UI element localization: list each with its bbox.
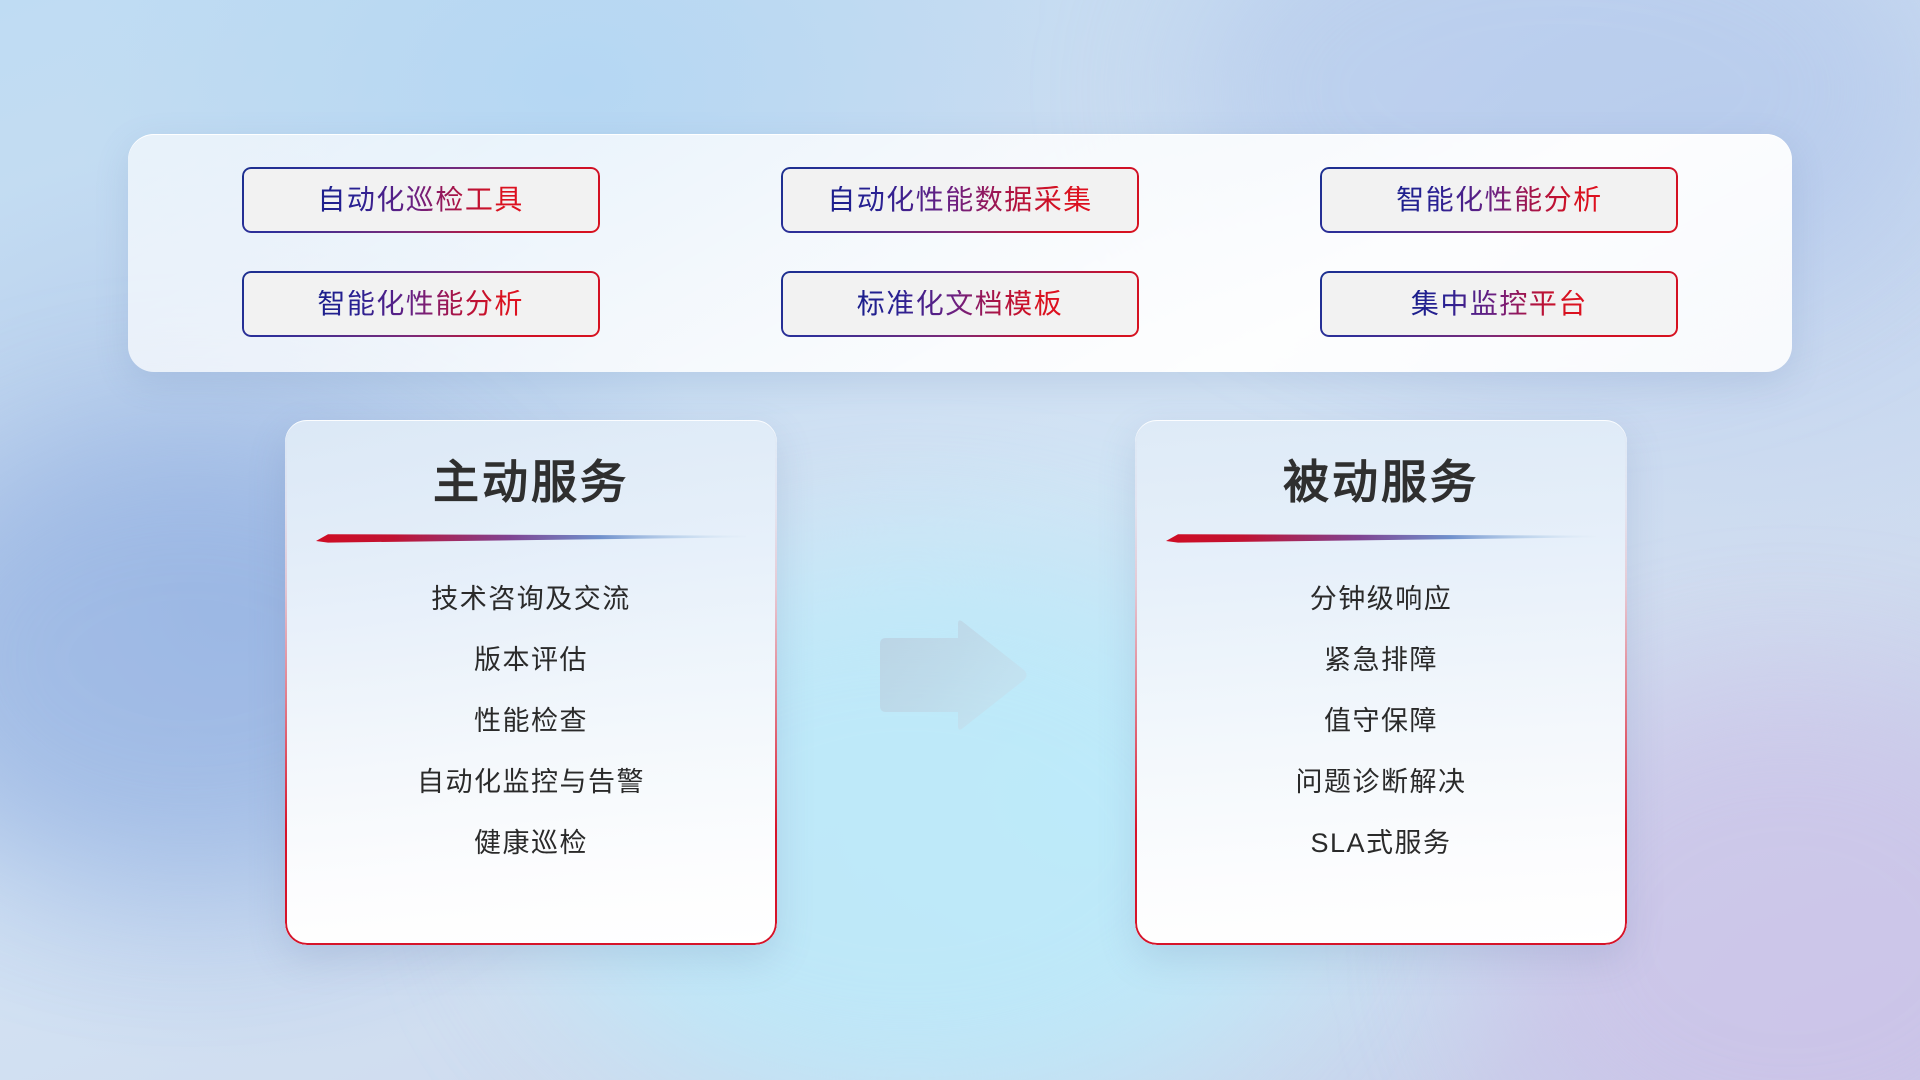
card-divider <box>1166 531 1596 543</box>
list-item[interactable]: 版本评估 <box>285 630 777 691</box>
list-item[interactable]: 值守保障 <box>1135 691 1627 752</box>
list-item[interactable]: SLA式服务 <box>1135 813 1627 874</box>
service-card-reactive[interactable]: 被动服务 分钟级响应 紧急排障 值守保障 问题诊断解决 SLA式服务 <box>1135 420 1627 945</box>
capability-pill-label: 智能化性能分析 <box>317 290 524 318</box>
service-item-list: 分钟级响应 紧急排障 值守保障 问题诊断解决 SLA式服务 <box>1135 543 1627 874</box>
capability-pill-1[interactable]: 自动化巡检工具 <box>242 167 600 233</box>
service-item-list: 技术咨询及交流 版本评估 性能检查 自动化监控与告警 健康巡检 <box>285 543 777 874</box>
list-item[interactable]: 自动化监控与告警 <box>285 752 777 813</box>
list-item[interactable]: 分钟级响应 <box>1135 569 1627 630</box>
list-item[interactable]: 健康巡检 <box>285 813 777 874</box>
list-item[interactable]: 性能检查 <box>285 691 777 752</box>
list-item[interactable]: 紧急排障 <box>1135 630 1627 691</box>
capability-pill-2[interactable]: 自动化性能数据采集 <box>781 167 1139 233</box>
capability-pill-5[interactable]: 标准化文档模板 <box>781 271 1139 337</box>
capability-pill-4[interactable]: 智能化性能分析 <box>242 271 600 337</box>
card-title: 被动服务 <box>1135 420 1627 509</box>
capability-pill-label: 自动化巡检工具 <box>317 186 524 214</box>
list-item[interactable]: 技术咨询及交流 <box>285 569 777 630</box>
capability-pill-label: 自动化性能数据采集 <box>827 186 1093 214</box>
card-title: 主动服务 <box>285 420 777 509</box>
capability-pill-3[interactable]: 智能化性能分析 <box>1320 167 1678 233</box>
right-arrow-icon <box>872 618 1032 733</box>
card-divider <box>316 531 746 543</box>
list-item[interactable]: 问题诊断解决 <box>1135 752 1627 813</box>
diagram-canvas: 自动化巡检工具 自动化性能数据采集 智能化性能分析 智能化性能分析 标准化文档模… <box>0 0 1920 1080</box>
capability-pill-label: 标准化文档模板 <box>857 290 1064 318</box>
service-card-proactive[interactable]: 主动服务 技术咨询及交流 版本评估 性能检查 自动化监控与告警 健康巡检 <box>285 420 777 945</box>
capability-pill-6[interactable]: 集中监控平台 <box>1320 271 1678 337</box>
capability-pill-label: 集中监控平台 <box>1411 290 1588 318</box>
capability-panel: 自动化巡检工具 自动化性能数据采集 智能化性能分析 智能化性能分析 标准化文档模… <box>128 134 1792 372</box>
capability-pill-label: 智能化性能分析 <box>1396 186 1603 214</box>
